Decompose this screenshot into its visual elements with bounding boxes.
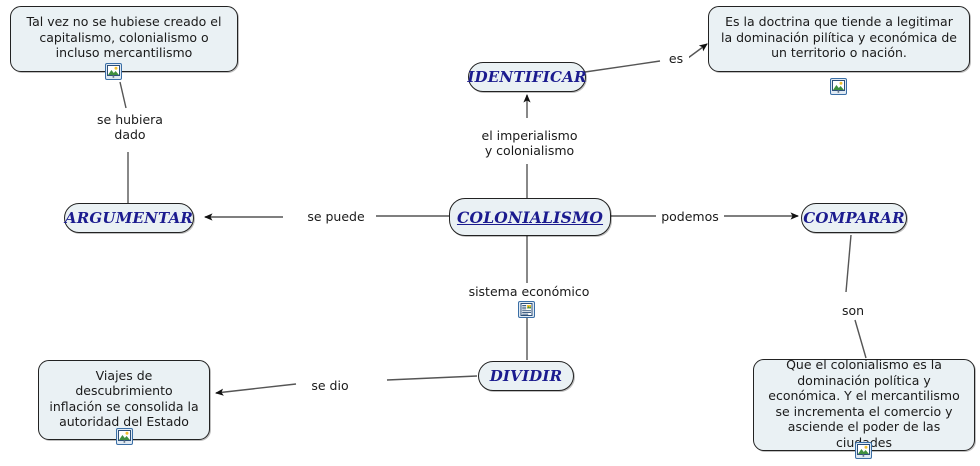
- edge-comparar-son: [846, 235, 851, 292]
- statement-box-bottom-right[interactable]: Que el colonialismo es la dominación pol…: [753, 359, 975, 451]
- statement-box-top-left[interactable]: Tal vez no se hubiese creado el capitali…: [10, 6, 238, 72]
- node-label: DIVIDIR: [490, 367, 563, 385]
- node-label: COLONIALISMO: [457, 208, 603, 227]
- picture-icon[interactable]: [855, 442, 872, 459]
- edge-sedio-stmt: [216, 384, 296, 393]
- edge-label-se-puede[interactable]: se puede: [296, 209, 376, 224]
- edge-label-se-dio[interactable]: se dio: [301, 378, 359, 393]
- picture-icon[interactable]: [105, 63, 122, 80]
- document-icon[interactable]: [518, 301, 535, 318]
- edge-label-podemos[interactable]: podemos: [656, 209, 724, 224]
- statement-text: Viajes de descubrimiento inflación se co…: [48, 368, 200, 430]
- node-label: COMPARAR: [803, 209, 905, 227]
- edge-label-es[interactable]: es: [663, 51, 689, 66]
- edge-es-stmt: [688, 44, 707, 58]
- node-colonialismo[interactable]: COLONIALISMO: [449, 198, 611, 236]
- edge-sehubiera-stmt: [120, 82, 126, 108]
- statement-box-top-right[interactable]: Es la doctrina que tiende a legitimar la…: [708, 6, 970, 72]
- node-dividir[interactable]: DIVIDIR: [478, 361, 574, 391]
- node-argumentar[interactable]: ARGUMENTAR: [64, 203, 194, 233]
- statement-text: Tal vez no se hubiese creado el capitali…: [20, 14, 228, 61]
- node-comparar[interactable]: COMPARAR: [801, 203, 907, 233]
- edge-label-el-imperialismo-y-colonialismo[interactable]: el imperialismo y colonialismo: [455, 128, 604, 158]
- statement-text: Es la doctrina que tiende a legitimar la…: [718, 14, 960, 61]
- edge-label-son[interactable]: son: [835, 303, 871, 318]
- edge-dividir-sedio: [387, 376, 477, 380]
- edge-identificar-es: [585, 61, 660, 72]
- node-label: ARGUMENTAR: [65, 209, 193, 227]
- statement-text: Que el colonialismo es la dominación pol…: [763, 357, 965, 450]
- node-identificar[interactable]: IDENTIFICAR: [468, 62, 586, 92]
- picture-icon[interactable]: [116, 428, 133, 445]
- edge-son-stmt: [855, 320, 866, 358]
- edge-label-sistema-economico[interactable]: sistema económico: [452, 284, 606, 299]
- concept-map-canvas: Tal vez no se hubiese creado el capitali…: [0, 0, 980, 466]
- picture-icon[interactable]: [830, 78, 847, 95]
- edge-label-se-hubiera-dado[interactable]: se hubiera dado: [86, 112, 174, 142]
- node-label: IDENTIFICAR: [467, 68, 586, 86]
